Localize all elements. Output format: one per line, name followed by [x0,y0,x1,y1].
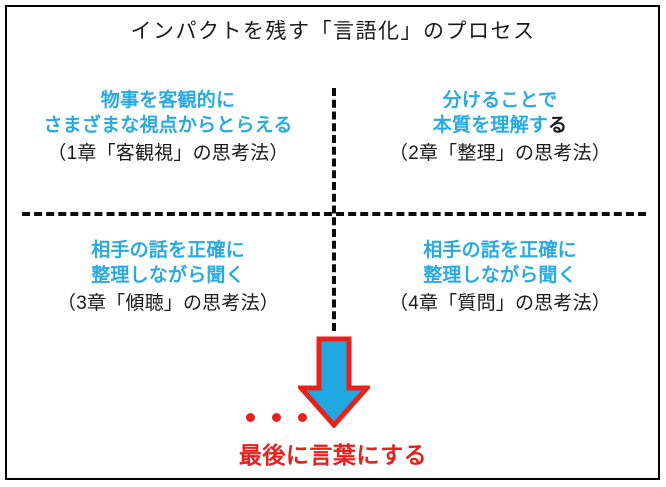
quadrant-headline: 物事を客観的に さまざまな視点からとらえる [8,88,328,138]
headline-line-2: 本質を理解する [340,113,660,138]
headline-line-1: 物事を客観的に [8,88,328,113]
quadrant-bottom-left: 相手の話を正確に 整理しながら聞く （3章「傾聴」の思考法） [8,238,328,317]
quadrant-chapter-label: （3章「傾聴」の思考法） [8,291,328,317]
quadrant-chapter-label: （2章「整理」の思考法） [340,141,660,167]
vertical-dashed-divider [332,88,336,331]
diagram-canvas: インパクトを残す「言語化」のプロセス 物事を客観的に さまざまな視点からとらえる… [0,0,666,487]
ellipsis-dots-icon [246,413,322,425]
quadrant-top-right: 分けることで 本質を理解する （2章「整理」の思考法） [340,88,660,167]
headline-line-2: 整理しながら聞く [8,263,328,288]
quadrant-chapter-label: （1章「客観視」の思考法） [8,141,328,167]
headline-line-2: 整理しながら聞く [340,263,660,288]
headline-line-2: さまざまな視点からとらえる [8,113,328,138]
headline-line-1: 相手の話を正確に [340,238,660,263]
headline-line-2-text: 本質を理解す [433,115,548,136]
page-title: インパクトを残す「言語化」のプロセス [0,18,666,46]
dot [298,413,307,422]
headline-line-2-text: 整理しながら聞く [91,265,245,286]
quadrant-bottom-right: 相手の話を正確に 整理しながら聞く （4章「質問」の思考法） [340,238,660,317]
quadrant-headline: 相手の話を正確に 整理しながら聞く [340,238,660,288]
quadrant-headline: 分けることで 本質を理解する [340,88,660,138]
quadrant-top-left: 物事を客観的に さまざまな視点からとらえる （1章「客観視」の思考法） [8,88,328,167]
conclusion-text: 最後に言葉にする [0,440,666,470]
quadrant-chapter-label: （4章「質問」の思考法） [340,291,660,317]
dot [272,413,281,422]
headline-line-1: 相手の話を正確に [8,238,328,263]
headline-line-2-text: さまざまな視点からとらえる [43,115,292,136]
headline-tail: る [548,115,567,136]
headline-line-2-text: 整理しながら聞く [423,265,577,286]
dot [246,413,255,422]
quadrant-headline: 相手の話を正確に 整理しながら聞く [8,238,328,288]
headline-line-1: 分けることで [340,88,660,113]
